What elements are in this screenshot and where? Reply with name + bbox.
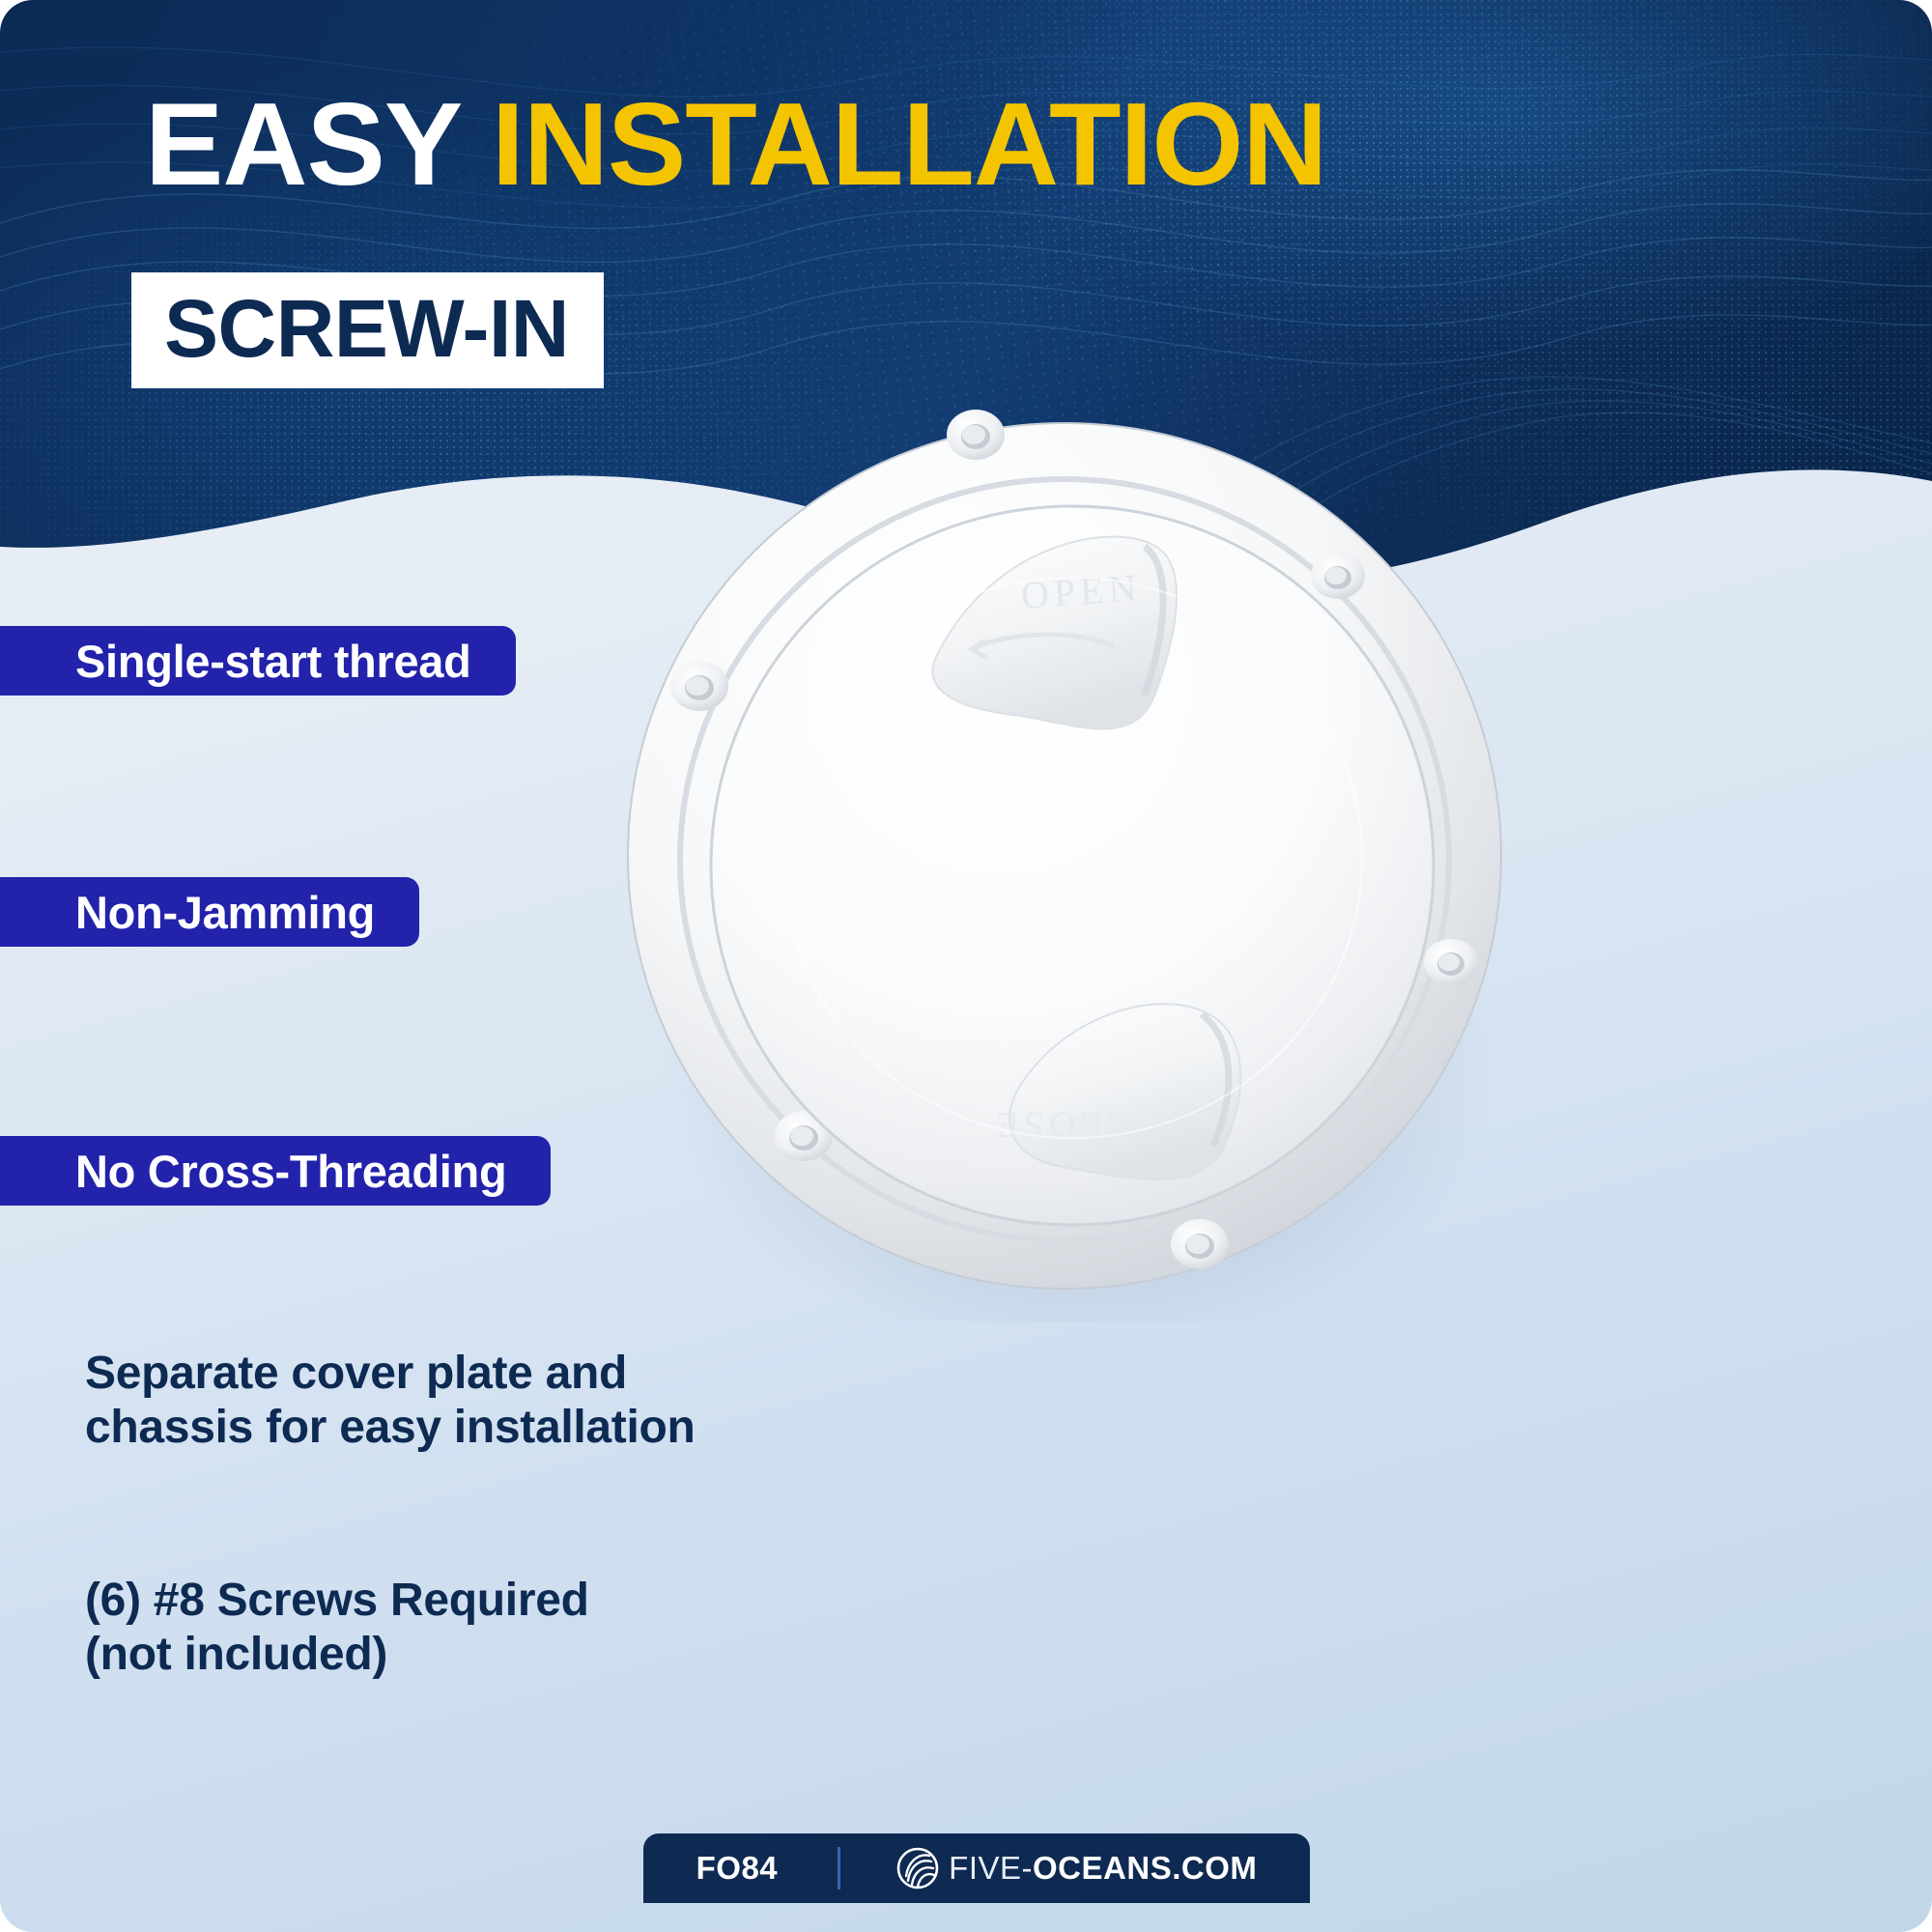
subtitle-badge: SCREW-IN xyxy=(131,272,604,388)
footer-brand-bold: OCEANS.COM xyxy=(1033,1850,1257,1886)
footer-brand-thin: FIVE- xyxy=(949,1850,1033,1886)
note-separate-cover-plate: Separate cover plate and chassis for eas… xyxy=(85,1347,696,1454)
product-image: OPEN CLOSE xyxy=(618,404,1526,1321)
feature-pill-non-jamming: Non-Jamming xyxy=(0,877,419,947)
open-embossed-label: OPEN xyxy=(1019,565,1142,617)
feature-pill-label: Non-Jamming xyxy=(75,886,375,939)
feature-pill-label: No Cross-Threading xyxy=(75,1145,506,1198)
page-title: EASY INSTALLATION xyxy=(145,85,1326,203)
footer-brand: FIVE-OCEANS.COM xyxy=(896,1847,1257,1889)
subtitle-badge-label: SCREW-IN xyxy=(164,288,569,369)
five-oceans-shell-logo-icon xyxy=(896,1847,939,1889)
footer-brand-text: FIVE-OCEANS.COM xyxy=(949,1850,1257,1887)
feature-pill-no-cross-threading: No Cross-Threading xyxy=(0,1136,551,1206)
headline-word-installation: INSTALLATION xyxy=(492,78,1326,210)
headline-word-easy: EASY xyxy=(145,78,492,210)
footer-badge: FO84 FIVE-OCEANS.COM xyxy=(643,1833,1310,1903)
footer-divider xyxy=(838,1847,840,1889)
feature-pill-single-start-thread: Single-start thread xyxy=(0,626,516,696)
note-screws-required: (6) #8 Screws Required (not included) xyxy=(85,1574,589,1681)
footer-sku: FO84 xyxy=(696,1850,779,1887)
product-infographic-card: EASY INSTALLATION SCREW-IN xyxy=(0,0,1932,1932)
feature-pill-label: Single-start thread xyxy=(75,635,471,688)
